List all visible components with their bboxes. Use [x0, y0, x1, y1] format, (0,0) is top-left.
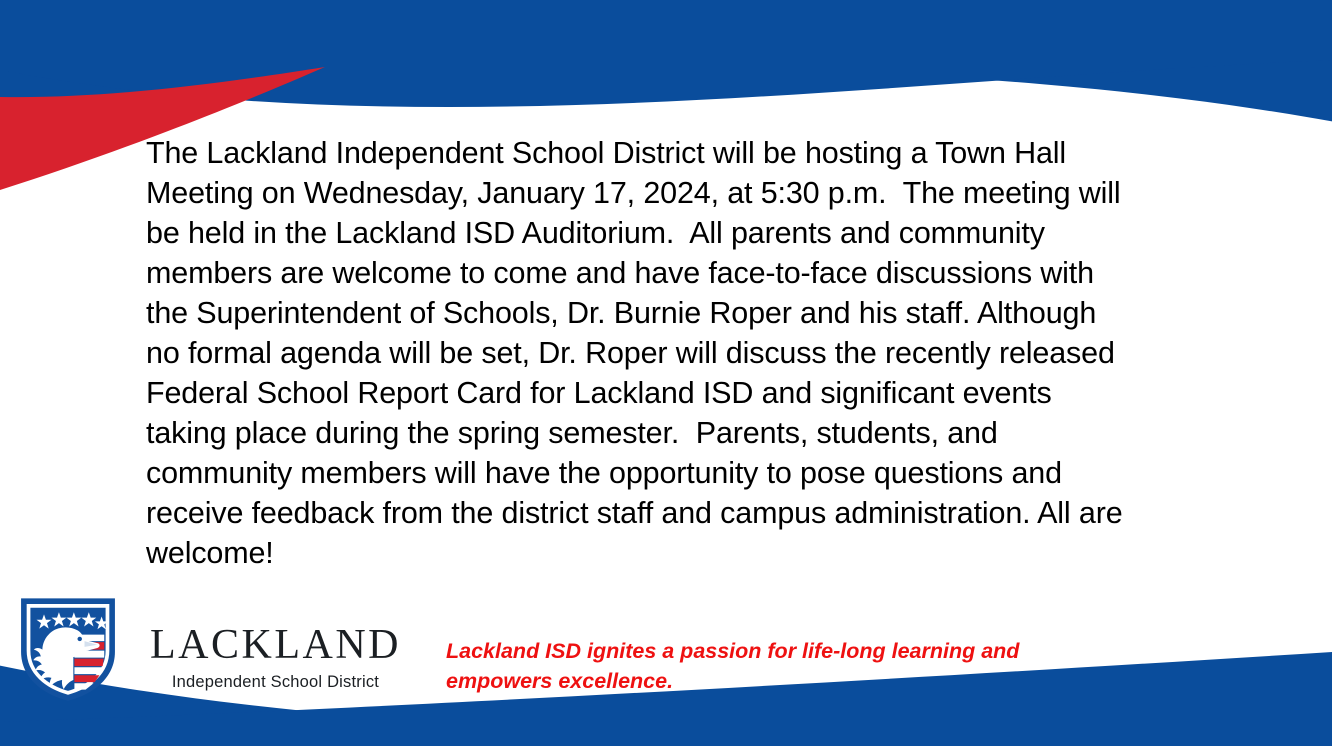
announcement-body-text: The Lackland Independent School District…: [146, 133, 1136, 573]
district-tagline: Lackland ISD ignites a passion for life-…: [446, 636, 1066, 696]
wordmark-subtitle: Independent School District: [172, 674, 379, 691]
district-logo-lockup: LACKLAND Independent School District: [14, 592, 401, 704]
eagle-shield-icon: [14, 592, 122, 704]
wordmark: LACKLAND Independent School District: [150, 606, 401, 691]
announcement-slide: The Lackland Independent School District…: [0, 0, 1332, 746]
wordmark-lackland: LACKLAND: [150, 624, 401, 666]
white-right-fill: [1180, 372, 1332, 660]
